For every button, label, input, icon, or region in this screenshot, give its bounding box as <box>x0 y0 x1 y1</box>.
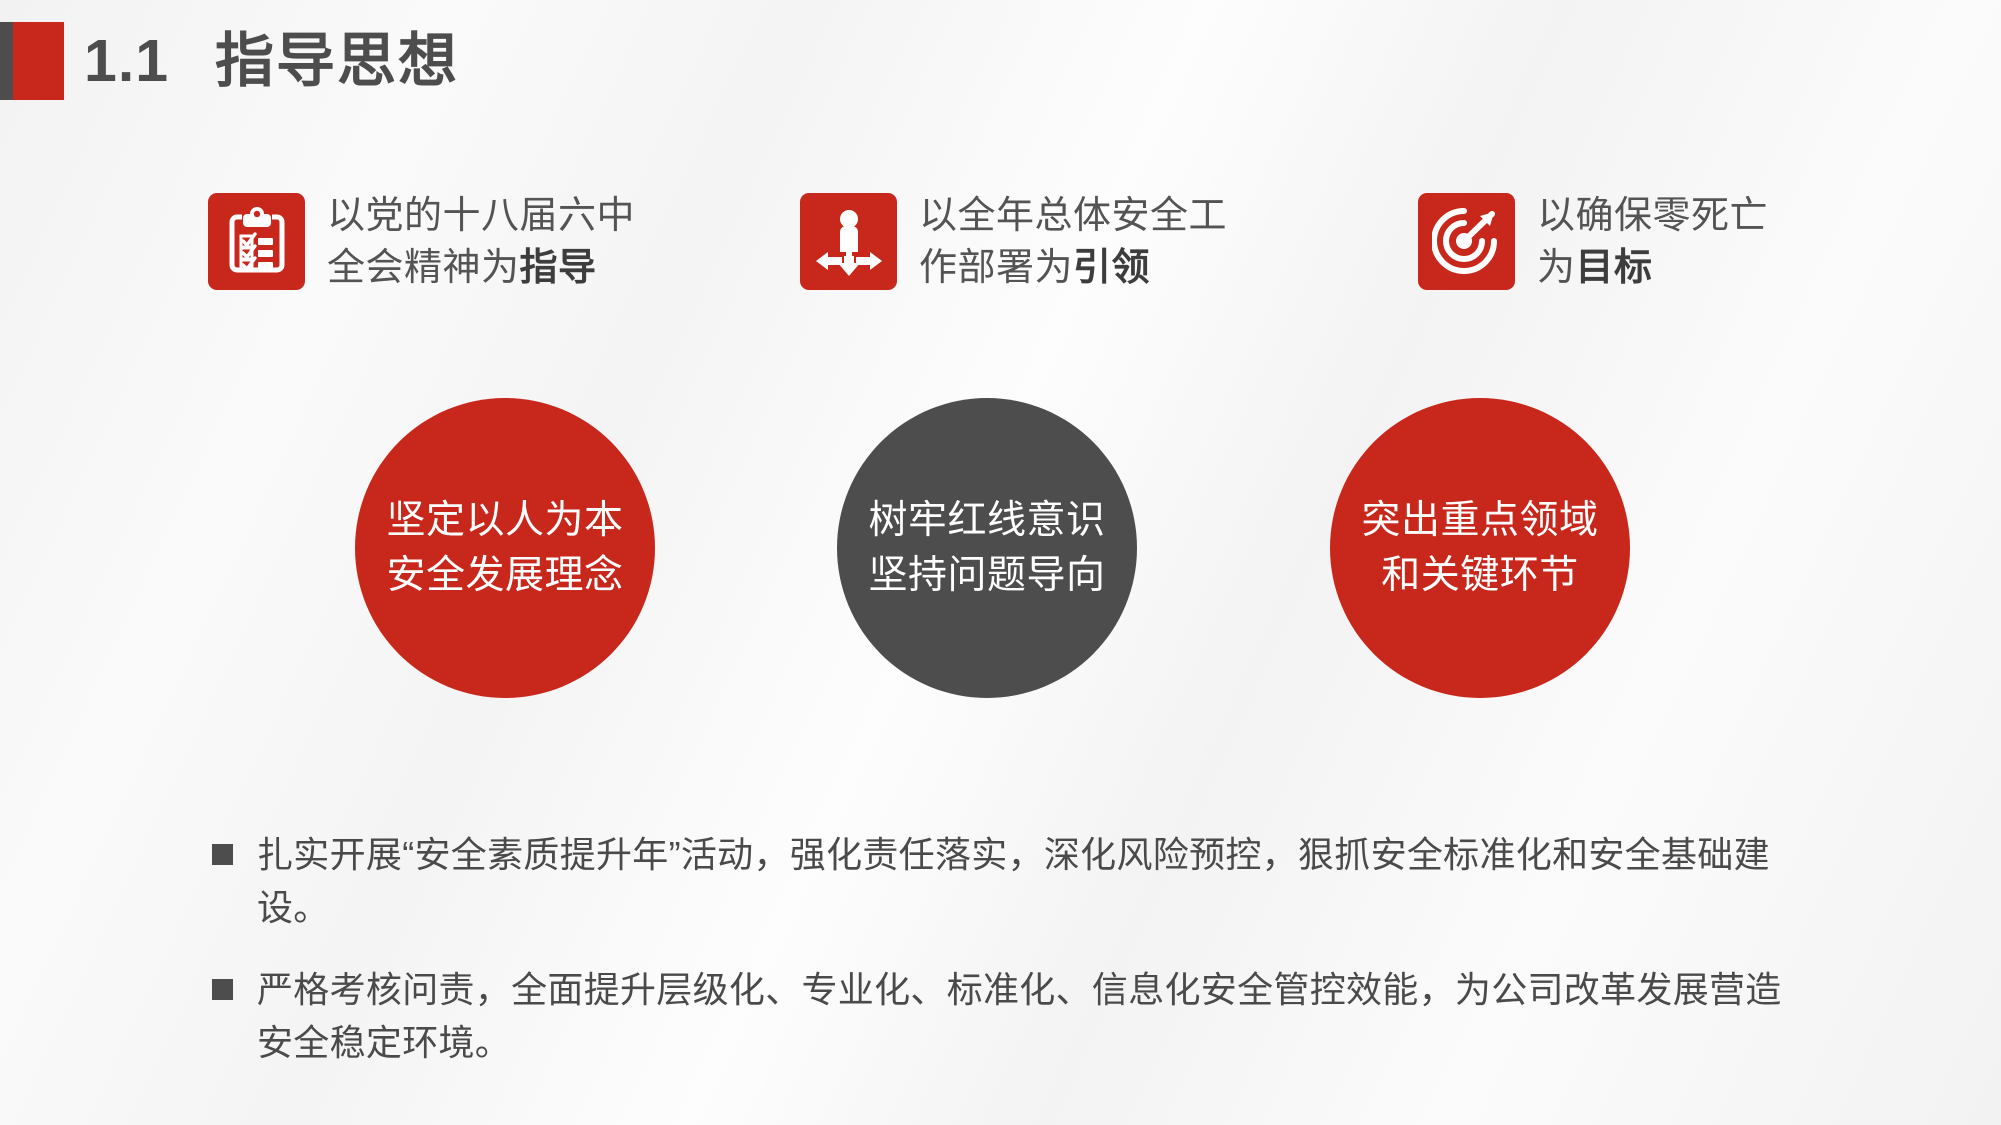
feature-label-emphasis: 指导 <box>520 247 597 289</box>
concept-circle-key-areas: 突出重点领域 和关键环节 <box>1330 398 1630 698</box>
bullet-square-icon <box>212 844 233 865</box>
title-accent-bar-red <box>13 22 64 100</box>
feature-label-emphasis: 引领 <box>1073 247 1150 289</box>
concept-circle-red-line: 树牢红线意识 坚持问题导向 <box>837 398 1137 698</box>
bullet-square-icon <box>212 979 233 1000</box>
feature-item-goal: 以确保零死亡 为目标 <box>1418 190 1768 295</box>
slide-canvas: 1.1 指导思想 <box>0 0 2001 1125</box>
list-item: 严格考核问责，全面提升层级化、专业化、标准化、信息化安全管控效能，为公司改革发展… <box>212 963 1812 1070</box>
feature-label: 以确保零死亡 为目标 <box>1537 190 1768 295</box>
feature-label: 以全年总体安全工 作部署为引领 <box>919 190 1227 295</box>
title-accent-bar-dark <box>0 22 13 100</box>
title-heading: 指导思想 <box>215 32 459 91</box>
page-title: 1.1 指导思想 <box>0 22 459 100</box>
bullet-list: 扎实开展“安全素质提升年”活动，强化责任落实，深化风险预控，狠抓安全标准化和安全… <box>212 828 1812 1097</box>
person-arrows-deployment-icon <box>800 193 897 290</box>
list-item: 扎实开展“安全素质提升年”活动，强化责任落实，深化风险预控，狠抓安全标准化和安全… <box>212 828 1812 935</box>
concept-circle-people-first: 坚定以人为本 安全发展理念 <box>355 398 655 698</box>
target-bullseye-arrow-icon <box>1418 193 1515 290</box>
bullet-text: 扎实开展“安全素质提升年”活动，强化责任落实，深化风险预控，狠抓安全标准化和安全… <box>257 834 1770 928</box>
feature-item-guidance: 以党的十八届六中 全会精神为指导 <box>208 190 635 295</box>
feature-label-emphasis: 目标 <box>1576 247 1653 289</box>
feature-row: 以党的十八届六中 全会精神为指导 以全年总体安全工 作部署为引领 <box>0 190 2001 330</box>
clipboard-checklist-icon <box>208 193 305 290</box>
title-number: 1.1 <box>84 32 169 91</box>
feature-item-deployment: 以全年总体安全工 作部署为引领 <box>800 190 1227 295</box>
feature-label: 以党的十八届六中 全会精神为指导 <box>327 190 635 295</box>
bullet-text: 严格考核问责，全面提升层级化、专业化、标准化、信息化安全管控效能，为公司改革发展… <box>257 969 1782 1063</box>
